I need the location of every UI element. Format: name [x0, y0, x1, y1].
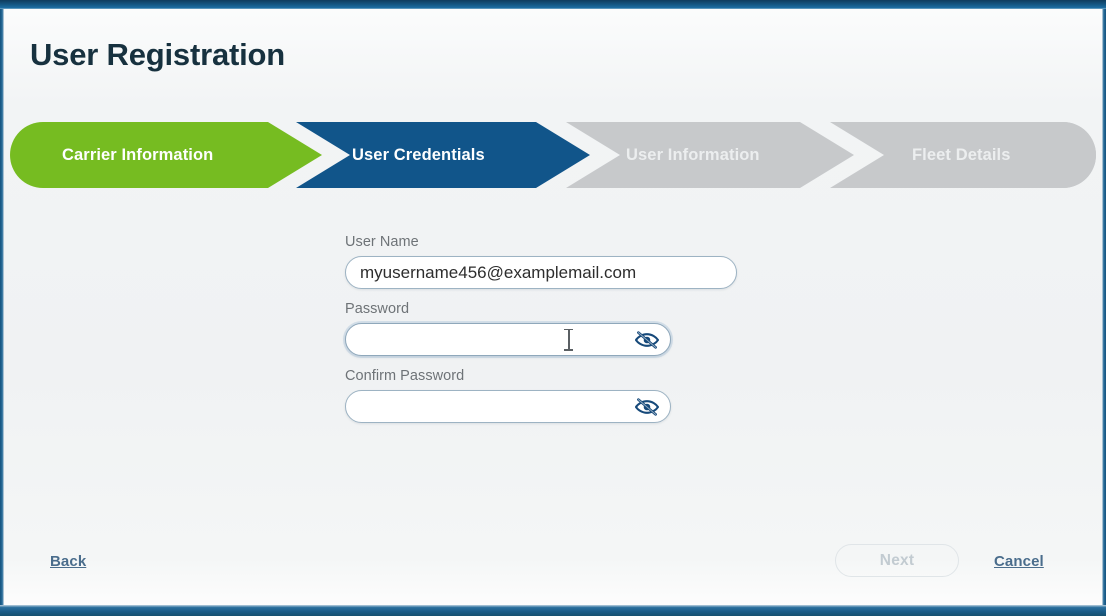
stepper-step-label: Fleet Details — [912, 146, 1011, 165]
back-link[interactable]: Back — [50, 553, 86, 570]
password-label: Password — [345, 301, 765, 317]
stepper-step-label: Carrier Information — [62, 146, 213, 165]
stepper-step-carrier-information[interactable]: Carrier Information — [10, 122, 322, 188]
stepper-step-user-credentials[interactable]: User Credentials — [296, 122, 590, 188]
window-chrome-top — [0, 0, 1106, 9]
confirm-password-label: Confirm Password — [345, 368, 765, 384]
next-button[interactable]: Next — [835, 544, 959, 577]
window-chrome-right — [1102, 9, 1106, 605]
stepper-step-label: User Credentials — [352, 146, 485, 165]
registration-page: User Registration Carrier Information Us… — [4, 9, 1102, 605]
application-window: User Registration Carrier Information Us… — [0, 0, 1106, 616]
stepper-step-fleet-details[interactable]: Fleet Details — [830, 122, 1096, 188]
stepper-step-user-information[interactable]: User Information — [566, 122, 854, 188]
field-password: Password — [345, 301, 765, 356]
password-input[interactable] — [346, 324, 670, 355]
confirm-password-input[interactable] — [346, 391, 670, 422]
user-name-input-shell[interactable] — [345, 256, 737, 289]
stepper-step-label: User Information — [626, 146, 760, 165]
user-name-input[interactable] — [346, 257, 736, 288]
user-credentials-form: User Name Password — [345, 234, 765, 435]
user-name-label: User Name — [345, 234, 765, 250]
cancel-link[interactable]: Cancel — [994, 553, 1044, 570]
registration-stepper: Carrier Information User Credentials Use… — [10, 122, 1096, 188]
field-user-name: User Name — [345, 234, 765, 289]
window-chrome-bottom — [0, 605, 1106, 616]
page-title: User Registration — [30, 37, 285, 73]
eye-slash-icon[interactable] — [634, 329, 660, 351]
password-input-shell[interactable] — [345, 323, 671, 356]
eye-slash-icon[interactable] — [634, 396, 660, 418]
confirm-password-input-shell[interactable] — [345, 390, 671, 423]
field-confirm-password: Confirm Password — [345, 368, 765, 423]
